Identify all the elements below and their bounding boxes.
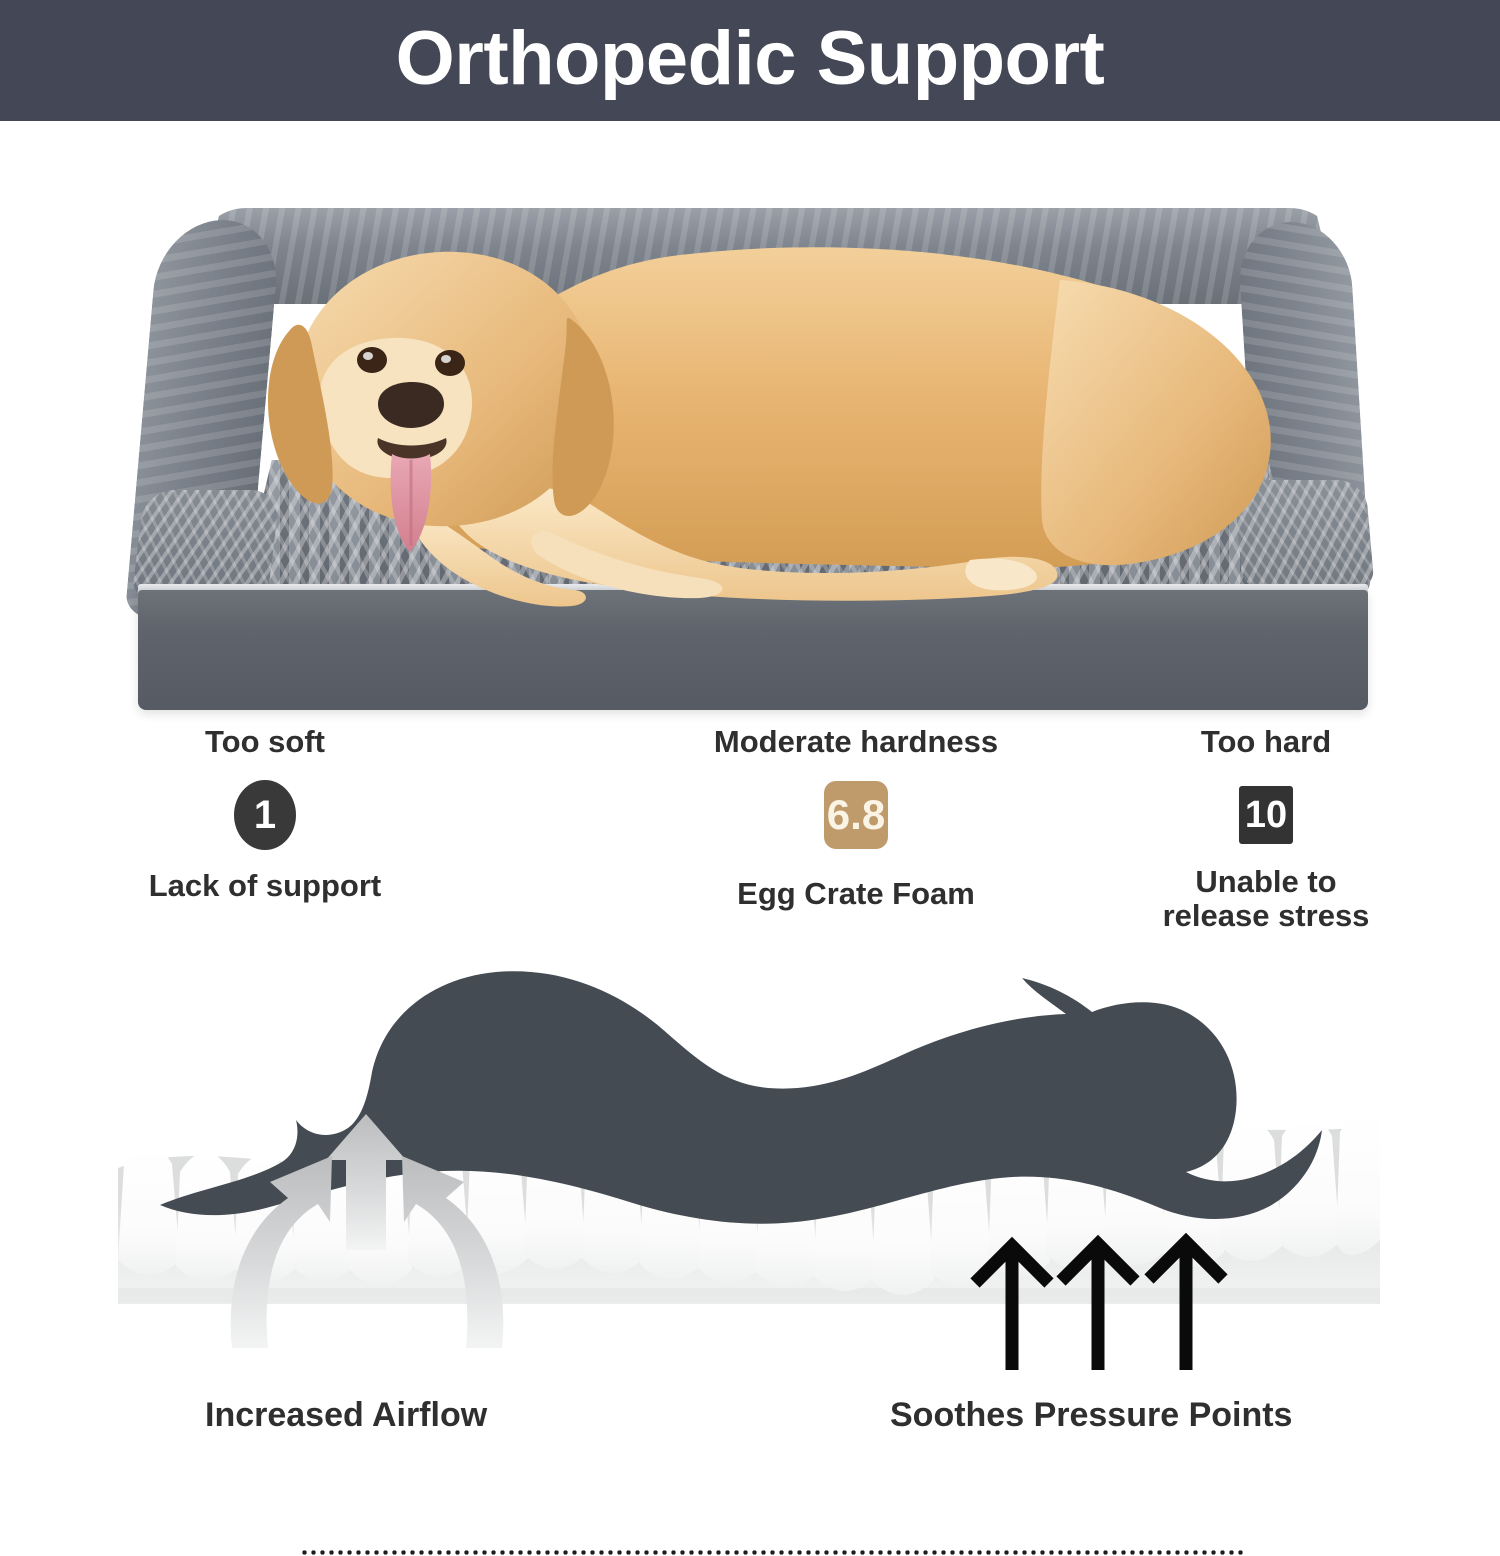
label-increased-airflow: Increased Airflow <box>205 1398 487 1432</box>
foam-diagram <box>0 950 1500 1444</box>
dog-rump <box>1041 280 1271 565</box>
header-banner: Orthopedic Support <box>0 0 1500 121</box>
scale-top-label-too-hard: Too hard <box>1201 726 1331 757</box>
label-soothes-pressure-points: Soothes Pressure Points <box>890 1398 1292 1432</box>
scale-bottom-label-unable-to-release-stress: Unable to release stress <box>1163 865 1370 933</box>
scale-bottom-label-lack-of-support: Lack of support <box>149 869 382 903</box>
hardness-scale: Too soft 1 Lack of support Moderate hard… <box>0 735 1500 935</box>
scale-badge-6-8: 6.8 <box>824 781 888 849</box>
foam-diagram-graphic <box>0 950 1500 1390</box>
dog-illustration <box>120 160 1390 705</box>
scale-bottom-label-egg-crate-foam: Egg Crate Foam <box>737 877 975 911</box>
page-title: Orthopedic Support <box>396 21 1105 97</box>
scale-badge-10: 10 <box>1239 786 1293 844</box>
scale-bottom-label-line-2: release stress <box>1163 898 1370 933</box>
dog-silhouette <box>160 971 1322 1223</box>
dog-eye-right <box>435 350 465 376</box>
pressure-arrow-1 <box>975 1246 1049 1370</box>
scale-badge-1: 1 <box>234 780 296 850</box>
pressure-arrow-3 <box>1149 1242 1223 1370</box>
scale-top-label-too-soft: Too soft <box>205 726 325 757</box>
pressure-arrow-2 <box>1061 1244 1135 1370</box>
pressure-arrows <box>975 1242 1223 1370</box>
scale-dotted-line <box>300 1549 1245 1556</box>
product-photo-scene <box>120 160 1390 705</box>
product-photo <box>120 160 1390 705</box>
dog-eye-left <box>357 347 387 373</box>
scale-top-label-moderate-hardness: Moderate hardness <box>714 726 998 757</box>
scale-bottom-label-line-1: Unable to <box>1195 864 1336 899</box>
